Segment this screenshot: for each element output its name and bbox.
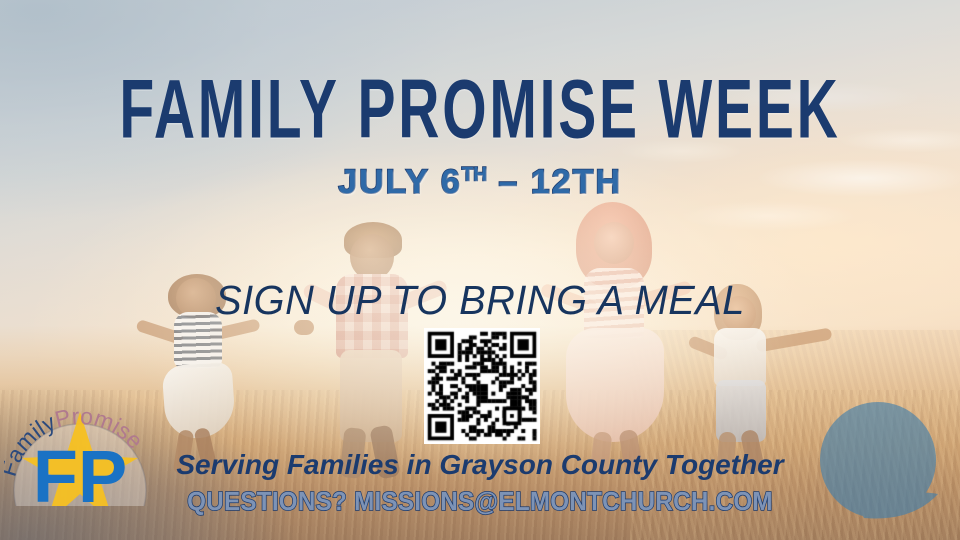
family-promise-logo: FamilyPromise FP — [4, 378, 156, 506]
poster-title: FAMILY PROMISE WEEK — [38, 72, 921, 148]
poster-date-range: JULY 6TH – 12TH — [0, 163, 960, 202]
qr-code-canvas[interactable] — [424, 328, 540, 444]
date-month-day: JULY 6 — [338, 163, 462, 201]
contact-email-line: QUESTIONS? MISSIONS@ELMONTCHURCH.COM — [34, 486, 927, 517]
family-promise-week-poster: FAMILY PROMISE WEEK JULY 6TH – 12TH SIGN… — [0, 0, 960, 540]
date-range-end: – 12TH — [487, 163, 622, 201]
elmont-church-logo — [812, 398, 954, 540]
date-ordinal-suffix: TH — [462, 165, 487, 186]
call-to-action-text: SIGN UP TO BRING A MEAL — [14, 277, 945, 324]
meal-signup-qr-code[interactable] — [424, 328, 540, 444]
fp-monogram: FP — [33, 435, 128, 506]
